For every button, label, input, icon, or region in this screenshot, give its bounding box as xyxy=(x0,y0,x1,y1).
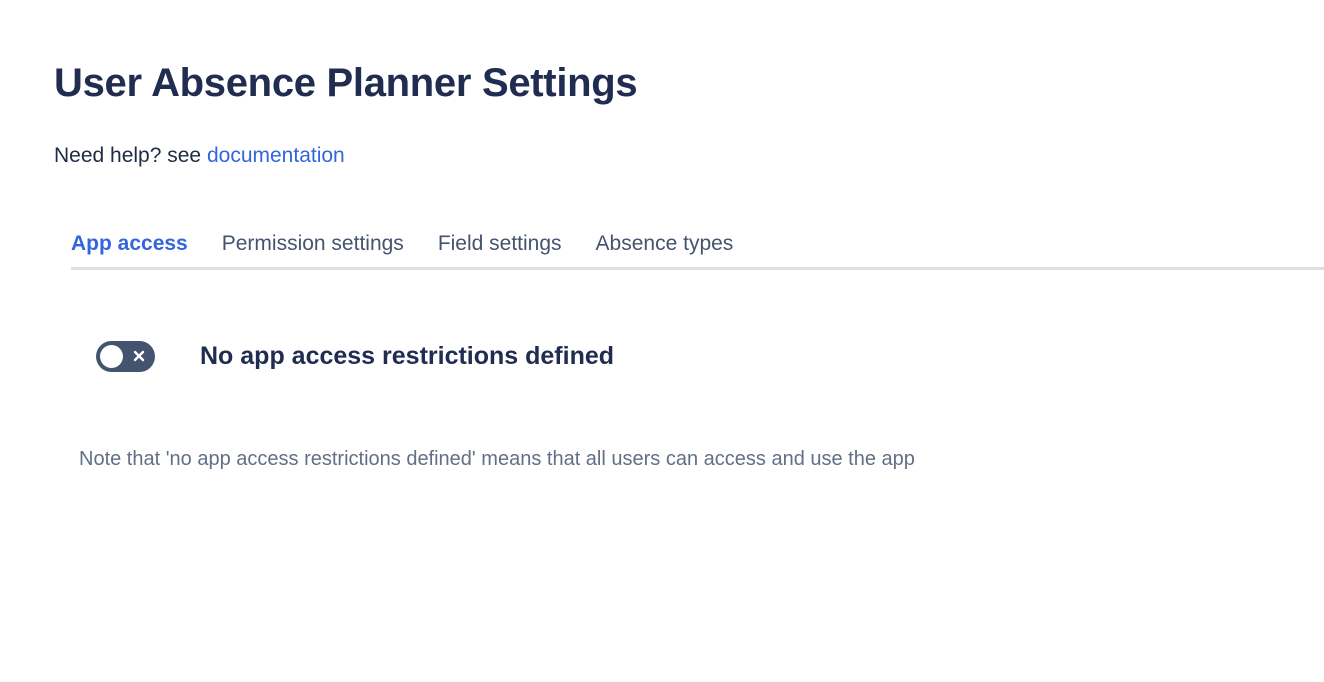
tab-field-settings[interactable]: Field settings xyxy=(438,230,562,270)
help-line: Need help? see documentation xyxy=(54,142,345,170)
settings-page: User Absence Planner Settings Need help?… xyxy=(0,0,1324,682)
documentation-link[interactable]: documentation xyxy=(207,144,345,167)
app-access-toggle-label: No app access restrictions defined xyxy=(200,340,614,372)
app-access-note: Note that 'no app access restrictions de… xyxy=(79,446,915,473)
app-access-restrictions-toggle[interactable] xyxy=(96,341,155,372)
tab-absence-types[interactable]: Absence types xyxy=(596,230,734,270)
tab-list: App access Permission settings Field set… xyxy=(71,228,733,270)
close-x-icon xyxy=(132,349,146,363)
page-title: User Absence Planner Settings xyxy=(54,57,637,109)
tab-bar: App access Permission settings Field set… xyxy=(0,228,1324,278)
tab-permission-settings[interactable]: Permission settings xyxy=(222,230,404,270)
app-access-toggle-row: No app access restrictions defined xyxy=(96,340,614,372)
tab-app-access[interactable]: App access xyxy=(71,230,188,270)
tab-divider xyxy=(71,267,1324,270)
toggle-knob xyxy=(100,345,123,368)
help-text: Need help? see xyxy=(54,144,201,167)
